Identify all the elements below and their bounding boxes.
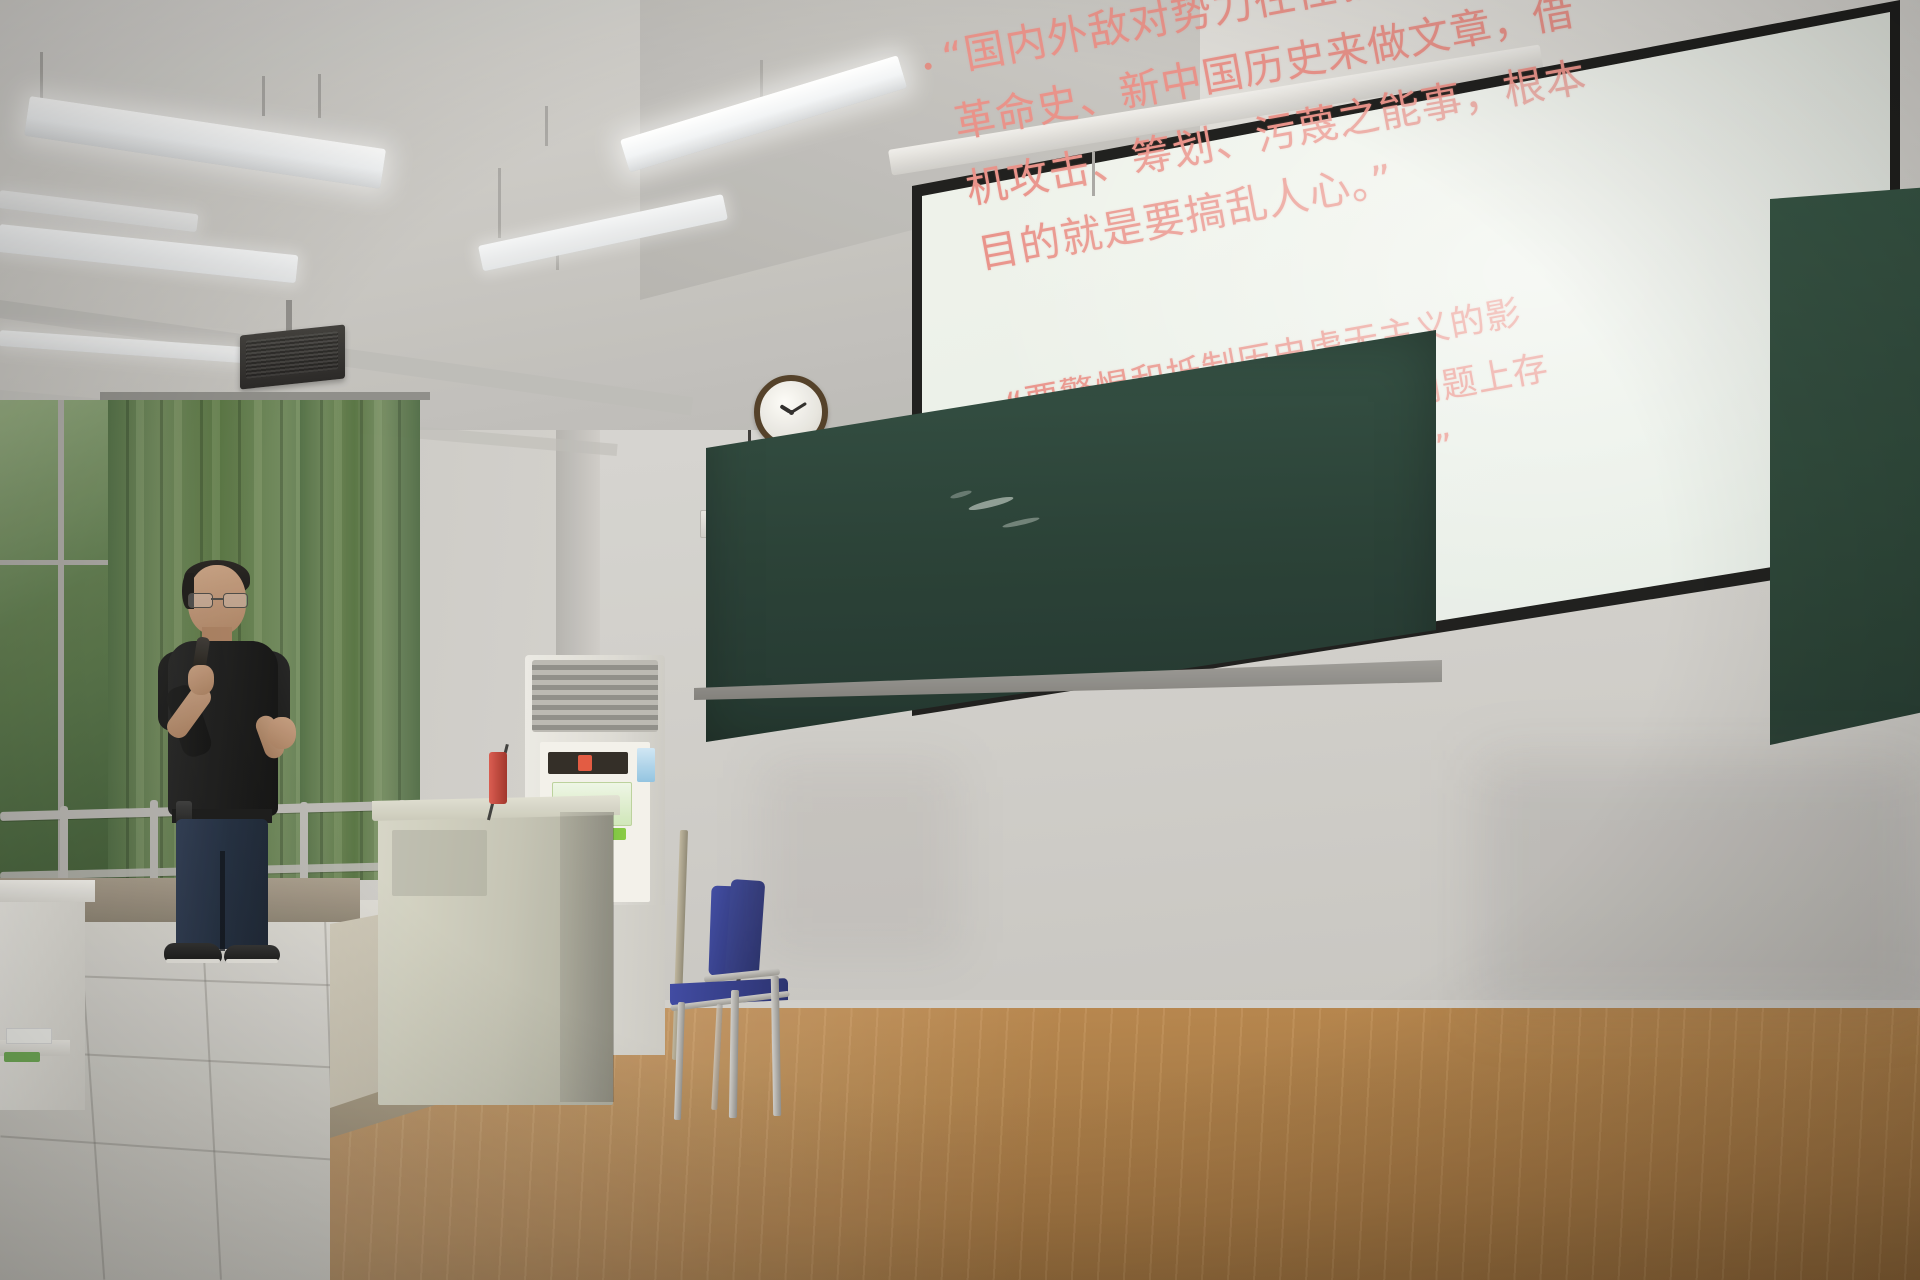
shoe-sole: [226, 959, 278, 963]
clock-center-pin: [789, 410, 794, 415]
screen-hanger: [1092, 152, 1095, 196]
trouser-seam: [220, 851, 225, 951]
light-hanger: [262, 76, 265, 116]
product-sticker: [637, 748, 655, 782]
curtain-rod: [100, 392, 430, 400]
hand: [188, 665, 214, 695]
wall-shadow: [760, 760, 960, 960]
chair-leg: [674, 1002, 685, 1120]
lectern-side-shadow: [560, 812, 614, 1102]
green-object: [4, 1052, 40, 1062]
chair-leg: [711, 1004, 723, 1110]
speaker-mount: [286, 300, 292, 334]
side-blackboard: [1770, 185, 1920, 745]
red-canister: [489, 752, 507, 804]
air-conditioner-grille-icon: [532, 660, 658, 732]
lectern-control-panel[interactable]: [392, 830, 487, 896]
light-hanger: [498, 168, 501, 238]
side-desk-top: [0, 880, 95, 902]
side-desk: [0, 890, 85, 1110]
display-indicator-icon: [578, 755, 592, 771]
glasses-icon: [188, 593, 246, 607]
lecturer: [150, 565, 310, 965]
hand: [268, 717, 296, 749]
shoe-sole: [166, 959, 220, 963]
classroom-photo: “国内外敌对势力往往就是拿中国 革命史、新中国历史来做文章，借 机攻击、筹划、污…: [0, 0, 1920, 1280]
paper-sheet: [6, 1028, 52, 1044]
light-hanger: [318, 74, 321, 118]
light-hanger: [40, 52, 43, 98]
chair-leg: [729, 990, 739, 1118]
light-hanger: [545, 106, 548, 146]
bullet-icon: [924, 62, 932, 70]
wall-shadow: [1480, 760, 1920, 1010]
light-hanger: [760, 60, 763, 98]
